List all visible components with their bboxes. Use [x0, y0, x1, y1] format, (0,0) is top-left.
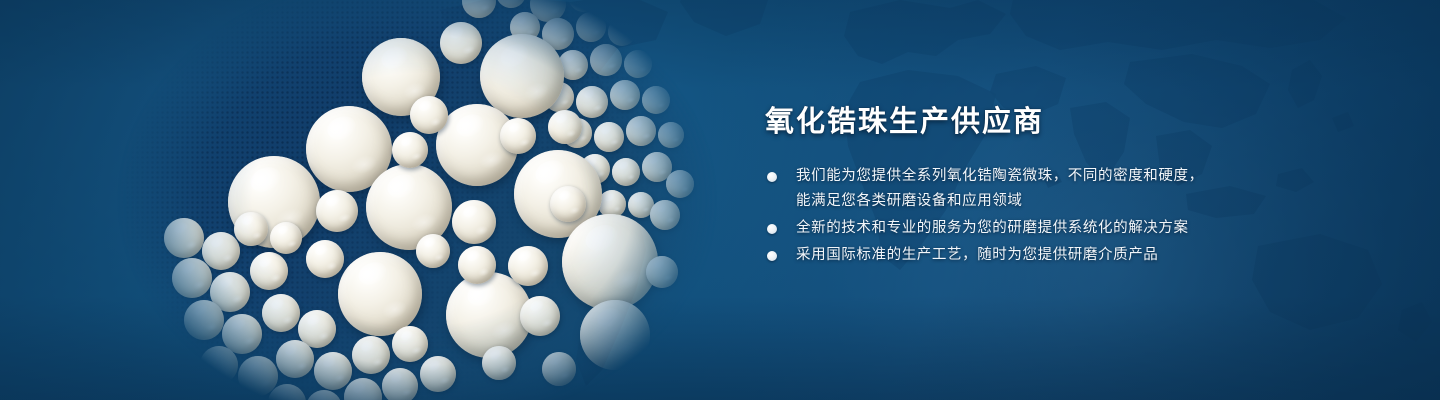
list-item-line1: 全新的技术和专业的服务为您的研磨提供系统化的解决方案 [796, 220, 1189, 236]
list-item-line2: 能满足您各类研磨设备和应用领域 [796, 189, 1385, 214]
list-item: 采用国际标准的生产工艺，随时为您提供研磨介质产品 [765, 243, 1385, 268]
page-title: 氧化锆珠生产供应商 [765, 104, 1385, 140]
list-item-line1: 采用国际标准的生产工艺，随时为您提供研磨介质产品 [796, 247, 1158, 263]
bullet-dot-icon [767, 172, 777, 182]
banner-text-panel: 氧化锆珠生产供应商 我们能为您提供全系列氧化锆陶瓷微珠，不同的密度和硬度， 能满… [765, 104, 1385, 270]
product-image-zirconia-beads [110, 0, 750, 400]
list-item-line1: 我们能为您提供全系列氧化锆陶瓷微珠，不同的密度和硬度， [796, 168, 1204, 184]
bullet-dot-icon [767, 251, 777, 261]
feature-list: 我们能为您提供全系列氧化锆陶瓷微珠，不同的密度和硬度， 能满足您各类研磨设备和应… [765, 164, 1385, 268]
list-item: 全新的技术和专业的服务为您的研磨提供系统化的解决方案 [765, 216, 1385, 241]
bullet-dot-icon [767, 224, 777, 234]
list-item: 我们能为您提供全系列氧化锆陶瓷微珠，不同的密度和硬度， 能满足您各类研磨设备和应… [765, 164, 1385, 214]
hero-banner: 氧化锆珠生产供应商 我们能为您提供全系列氧化锆陶瓷微珠，不同的密度和硬度， 能满… [0, 0, 1440, 400]
bead-cluster [110, 0, 750, 400]
